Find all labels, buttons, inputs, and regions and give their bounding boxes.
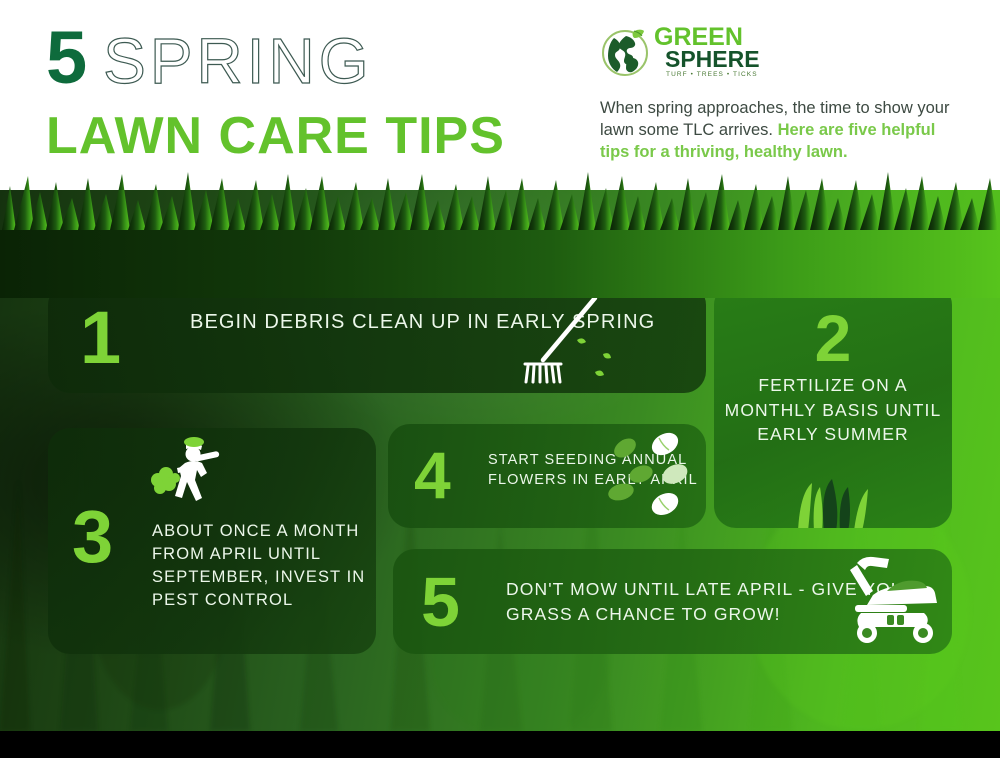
logo[interactable]: GREEN SPHERE TURF • TREES • TICKS — [600, 26, 960, 78]
tip-card-1[interactable]: 1 BEGIN DEBRIS CLEAN UP IN EARLY SPRING — [48, 283, 706, 393]
intro-paragraph: When spring approaches, the time to show… — [600, 97, 960, 163]
tip-number-4: 4 — [414, 442, 451, 508]
header-panel: 5 SPRING LAWN CARE TIPS GREEN SPHERE T — [0, 0, 1000, 190]
tip-card-3[interactable]: 3 ABOUT ONCE A MONTH FROM APRIL UNTIL SE… — [48, 428, 376, 654]
logo-word-sphere: SPHERE — [654, 48, 760, 71]
rake-icon — [503, 288, 623, 388]
tip-number-2: 2 — [714, 305, 952, 371]
logo-tagline: TURF • TREES • TICKS — [654, 72, 760, 79]
title-spring: SPRING — [103, 25, 372, 97]
infographic-poster: 5 SPRING LAWN CARE TIPS GREEN SPHERE T — [0, 0, 1000, 758]
seeds-icon — [603, 426, 706, 526]
bottom-bar — [0, 731, 1000, 758]
tip-card-4[interactable]: 4 START SEEDING ANNUAL FLOWERS IN EARLY … — [388, 424, 706, 528]
tip-number-5: 5 — [421, 567, 460, 637]
pest-sprayer-icon — [148, 436, 228, 506]
title-number: 5 — [46, 22, 85, 94]
tip-number-1: 1 — [80, 301, 121, 375]
tip-text-2: FERTILIZE ON A MONTHLY BASIS UNTIL EARLY… — [724, 373, 942, 447]
tip-text-3: ABOUT ONCE A MONTH FROM APRIL UNTIL SEPT… — [152, 520, 376, 612]
brand-block: GREEN SPHERE TURF • TREES • TICKS When s… — [600, 26, 960, 163]
tip-number-3: 3 — [72, 500, 113, 574]
tip-card-5[interactable]: 5 DON'T MOW UNTIL LATE APRIL - GIVE YOUR… — [393, 549, 952, 654]
title-subline: LAWN CARE TIPS — [46, 108, 505, 164]
page-title: 5 SPRING LAWN CARE TIPS — [46, 22, 505, 164]
grass-blades-icon — [784, 461, 884, 528]
lawn-mower-icon — [833, 549, 951, 649]
tip-card-2[interactable]: 2 FERTILIZE ON A MONTHLY BASIS UNTIL EAR… — [714, 283, 952, 528]
globe-icon — [600, 26, 652, 78]
grass-silhouette — [0, 168, 1000, 298]
